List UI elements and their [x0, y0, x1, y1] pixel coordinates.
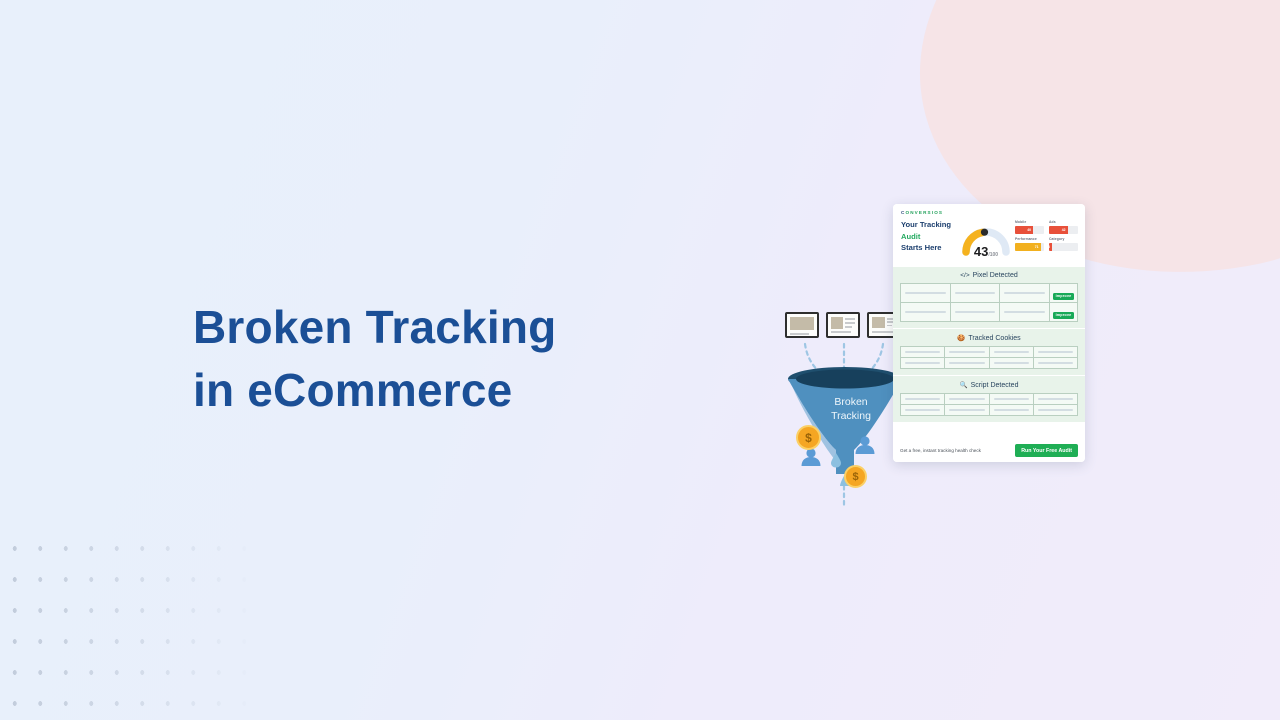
section-title-text-script-detected: Script Detected — [971, 382, 1019, 389]
metric-label-mobile: Mobile — [1015, 220, 1044, 224]
table-cell — [1000, 284, 1050, 303]
section-title-script-detected: 🔍 Script Detected — [900, 381, 1078, 389]
table-cell — [901, 347, 945, 358]
metric-value-performance: 71 — [1035, 245, 1039, 249]
audit-section-pixel-detected: </> Pixel Detected Improve Improve — [893, 266, 1085, 328]
customer-person-icon-right — [853, 436, 877, 454]
metric-bar-category: 8 — [1049, 243, 1078, 252]
table-cell — [901, 358, 945, 369]
metric-value-mobile: 40 — [1027, 228, 1031, 232]
cookie-icon: 🍪 — [957, 334, 965, 342]
table-row[interactable]: Improve — [901, 303, 1078, 322]
revenue-coin-icon-left: $ — [796, 425, 821, 450]
page-title-line-2: in eCommerce — [193, 359, 713, 422]
audit-score-gauge: 43/100 — [961, 219, 1011, 261]
metric-tile-performance: Performance 71 — [1015, 237, 1044, 251]
table-cell — [989, 405, 1033, 416]
leak-droplet-icon — [829, 452, 843, 468]
section-title-tracked-cookies: 🍪 Tracked Cookies — [900, 334, 1078, 342]
table-cell — [1000, 303, 1050, 322]
table-row[interactable]: Improve — [901, 284, 1078, 303]
table-cell — [1033, 347, 1077, 358]
table-row[interactable] — [901, 358, 1078, 369]
audit-title-line-3: Starts Here — [901, 242, 957, 254]
table-cell-action: Improve — [1050, 303, 1078, 322]
metric-value-ads: 42 — [1062, 228, 1066, 232]
audit-card-header: CONVERSIOS Your Tracking Audit Starts He… — [893, 204, 1085, 266]
table-cell — [1033, 405, 1077, 416]
table-cell — [950, 303, 1000, 322]
tracking-audit-report-card[interactable]: CONVERSIOS Your Tracking Audit Starts He… — [893, 204, 1085, 462]
table-cell — [945, 358, 989, 369]
table-cell — [989, 394, 1033, 405]
audit-score-denominator: /100 — [988, 252, 998, 258]
background-dot-grid-decoration — [0, 527, 260, 720]
table-row[interactable] — [901, 405, 1078, 416]
audit-title-line-1: Your Tracking — [901, 219, 957, 231]
audit-metric-grid: Mobile 40 Ads 42 Per — [1015, 219, 1078, 251]
table-cell — [1033, 358, 1077, 369]
brand-logo: CONVERSIOS — [901, 210, 1078, 215]
table-cell — [901, 303, 951, 322]
audit-score-number: 43 — [974, 244, 988, 259]
metric-tile-category: Category 8 — [1049, 237, 1078, 251]
metric-bar-ads: 42 — [1049, 226, 1078, 235]
table-cell — [901, 394, 945, 405]
metric-label-category: Category — [1049, 237, 1078, 241]
audit-card-title: Your Tracking Audit Starts Here — [901, 219, 957, 254]
tracked-cookies-table[interactable] — [900, 346, 1078, 369]
pixel-detected-table[interactable]: Improve Improve — [900, 283, 1078, 322]
metric-value-category: 8 — [1049, 245, 1050, 249]
table-cell — [989, 347, 1033, 358]
audit-section-tracked-cookies: 🍪 Tracked Cookies — [893, 328, 1085, 375]
brand-logo-rest: ONVERSIOS — [905, 210, 943, 215]
table-cell — [945, 405, 989, 416]
metric-bar-mobile: 40 — [1015, 226, 1044, 235]
table-cell — [945, 394, 989, 405]
metric-label-performance: Performance — [1015, 237, 1044, 241]
table-row[interactable] — [901, 347, 1078, 358]
table-cell — [901, 405, 945, 416]
metric-tile-mobile: Mobile 40 — [1015, 220, 1044, 234]
script-detected-table[interactable] — [900, 393, 1078, 416]
improve-button[interactable]: Improve — [1053, 312, 1075, 319]
table-cell — [989, 358, 1033, 369]
improve-button[interactable]: Improve — [1053, 293, 1075, 300]
audit-section-script-detected: 🔍 Script Detected — [893, 375, 1085, 422]
page-title: Broken Tracking in eCommerce — [193, 296, 713, 422]
metric-label-ads: Ads — [1049, 220, 1078, 224]
table-cell — [1033, 394, 1077, 405]
footer-helper-text: Get a free, instant tracking health chec… — [900, 448, 981, 453]
search-icon: 🔍 — [960, 381, 968, 389]
page-title-line-1: Broken Tracking — [193, 296, 713, 359]
code-icon: </> — [960, 272, 969, 279]
revenue-coin-icon-right: $ — [844, 465, 867, 488]
audit-card-footer: Get a free, instant tracking health chec… — [893, 439, 1085, 462]
customer-person-icon-left — [799, 448, 823, 466]
section-title-pixel-detected: </> Pixel Detected — [900, 272, 1078, 279]
audit-title-line-2: Audit — [901, 231, 957, 243]
table-cell — [901, 284, 951, 303]
table-cell — [950, 284, 1000, 303]
metric-bar-performance: 71 — [1015, 243, 1044, 252]
table-row[interactable] — [901, 394, 1078, 405]
table-cell — [945, 347, 989, 358]
section-title-text-tracked-cookies: Tracked Cookies — [968, 335, 1020, 342]
table-cell-action: Improve — [1050, 284, 1078, 303]
metric-tile-ads: Ads 42 — [1049, 220, 1078, 234]
section-title-text-pixel-detected: Pixel Detected — [973, 272, 1018, 279]
run-free-audit-button[interactable]: Run Your Free Audit — [1015, 444, 1078, 457]
audit-score-value: 43/100 — [961, 244, 1011, 259]
